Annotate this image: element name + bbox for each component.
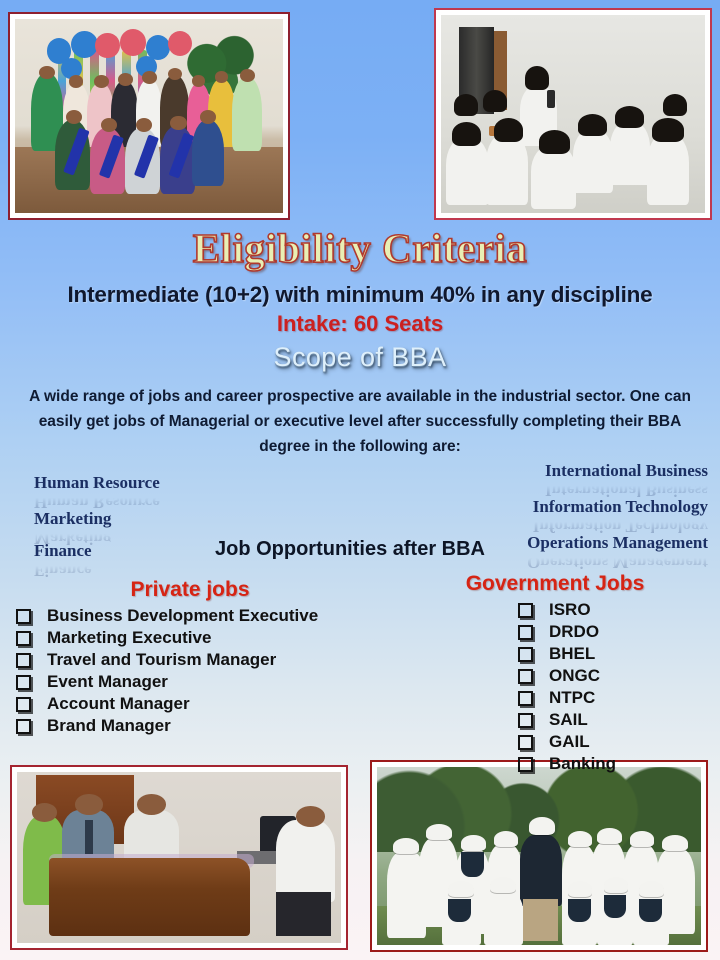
list-item-label: Brand Manager [47, 716, 171, 736]
list-item: Banking [518, 754, 616, 774]
checkbox-icon [518, 625, 533, 640]
list-item-label: BHEL [549, 644, 595, 664]
slide-root: Eligibility Criteria Intermediate (10+2)… [0, 0, 720, 960]
keyword-label: Marketing [34, 509, 111, 529]
eligibility-requirement-text: Intermediate (10+2) with minimum 40% in … [0, 282, 720, 308]
heading-government-jobs: Government Jobs [430, 572, 680, 596]
government-jobs-list: ISRO DRDO BHEL ONGC NTPC SAIL GAIL Bank [518, 600, 616, 776]
list-item-label: GAIL [549, 732, 590, 752]
checkbox-icon [518, 757, 533, 772]
list-item: ONGC [518, 666, 616, 686]
checkbox-icon [16, 609, 31, 624]
private-jobs-list: Business Development Executive Marketing… [16, 606, 318, 738]
checkbox-icon [16, 697, 31, 712]
list-item: Event Manager [16, 672, 318, 692]
keyword-finance: Finance Finance [34, 541, 92, 580]
photo-group-felicitation [8, 12, 290, 220]
checkbox-icon [16, 631, 31, 646]
list-item: BHEL [518, 644, 616, 664]
keyword-reflection: Finance [34, 560, 92, 580]
keyword-reflection: Operations Management [527, 552, 708, 572]
list-item-label: Marketing Executive [47, 628, 211, 648]
checkbox-icon [16, 653, 31, 668]
heading-eligibility-criteria: Eligibility Criteria [0, 228, 720, 269]
checkbox-icon [518, 647, 533, 662]
list-item-label: Account Manager [47, 694, 190, 714]
keyword-operations-management: Operations Management Operations Managem… [527, 533, 708, 572]
list-item-label: ISRO [549, 600, 591, 620]
checkbox-icon [518, 713, 533, 728]
photo-interview-panel [10, 765, 348, 950]
list-item: Account Manager [16, 694, 318, 714]
checkbox-icon [518, 603, 533, 618]
list-item: Brand Manager [16, 716, 318, 736]
list-item-label: Business Development Executive [47, 606, 318, 626]
keyword-international-business: International Business International Bus… [545, 461, 708, 500]
checkbox-icon [16, 719, 31, 734]
keyword-information-technology: Information Technology Information Techn… [533, 497, 708, 536]
keyword-human-resource: Human Resource Human Resource [34, 473, 160, 512]
photo-industrial-visit [370, 760, 708, 952]
photo-classroom-seminar [434, 8, 712, 220]
checkbox-icon [518, 669, 533, 684]
list-item-label: Travel and Tourism Manager [47, 650, 276, 670]
list-item: SAIL [518, 710, 616, 730]
keyword-label: Information Technology [533, 497, 708, 517]
intake-seats-text: Intake: 60 Seats [0, 311, 720, 337]
heading-private-jobs: Private jobs [70, 578, 310, 602]
checkbox-icon [16, 675, 31, 690]
list-item: GAIL [518, 732, 616, 752]
list-item: Business Development Executive [16, 606, 318, 626]
list-item-label: ONGC [549, 666, 600, 686]
list-item-label: Event Manager [47, 672, 168, 692]
list-item-label: Banking [549, 754, 616, 774]
list-item-label: DRDO [549, 622, 599, 642]
scope-paragraph: A wide range of jobs and career prospect… [28, 384, 692, 459]
keyword-label: Human Resource [34, 473, 160, 493]
checkbox-icon [518, 735, 533, 750]
checkbox-icon [518, 691, 533, 706]
list-item: Travel and Tourism Manager [16, 650, 318, 670]
heading-job-opportunities: Job Opportunities after BBA [200, 538, 500, 561]
keyword-label: Finance [34, 541, 92, 561]
heading-scope-of-bba: Scope of BBA [0, 342, 720, 373]
list-item: DRDO [518, 622, 616, 642]
list-item-label: NTPC [549, 688, 595, 708]
list-item: ISRO [518, 600, 616, 620]
list-item: NTPC [518, 688, 616, 708]
list-item: Marketing Executive [16, 628, 318, 648]
keyword-label: International Business [545, 461, 708, 481]
list-item-label: SAIL [549, 710, 588, 730]
keyword-label: Operations Management [527, 533, 708, 553]
